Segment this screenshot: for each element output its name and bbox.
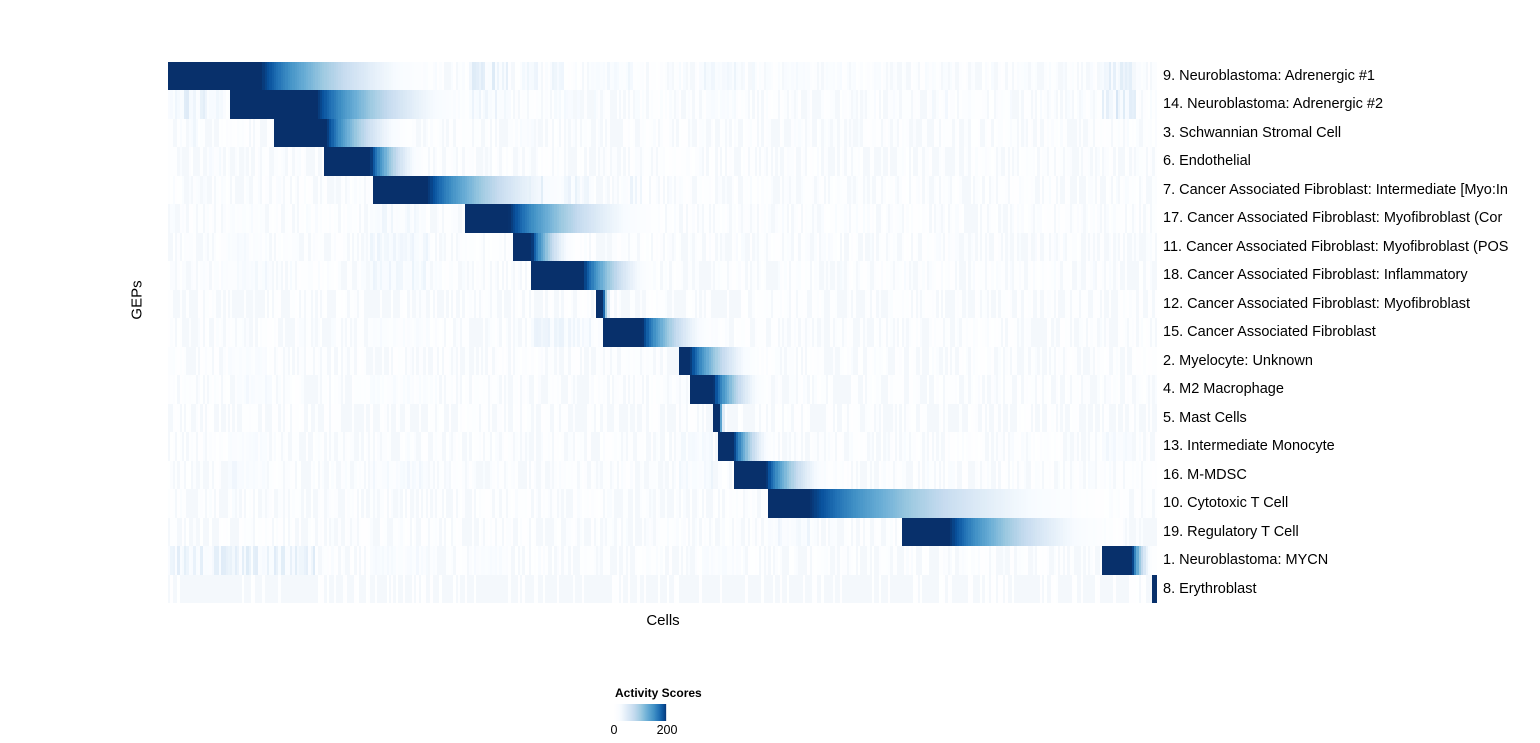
- colorbar-tick-label: 200: [657, 723, 678, 737]
- row-label: 10. Cytotoxic T Cell: [1163, 489, 1288, 517]
- heatmap-row: [168, 461, 1157, 489]
- heatmap-row: [168, 404, 1157, 432]
- row-label: 12. Cancer Associated Fibroblast: Myofib…: [1163, 290, 1470, 318]
- row-label: 18. Cancer Associated Fibroblast: Inflam…: [1163, 261, 1468, 289]
- row-label: 11. Cancer Associated Fibroblast: Myofib…: [1163, 233, 1508, 261]
- row-label: 15. Cancer Associated Fibroblast: [1163, 318, 1376, 346]
- legend-title: Activity Scores: [615, 686, 814, 700]
- x-axis-label: Cells: [646, 612, 679, 629]
- heatmap-row: [168, 62, 1157, 90]
- heatmap-row: [168, 119, 1157, 147]
- heatmap-row: [168, 489, 1157, 517]
- colorbar-gradient: [614, 704, 667, 721]
- row-label: 9. Neuroblastoma: Adrenergic #1: [1163, 62, 1375, 90]
- row-label: 5. Mast Cells: [1163, 404, 1247, 432]
- row-label: 17. Cancer Associated Fibroblast: Myofib…: [1163, 204, 1502, 232]
- row-label: 16. M-MDSC: [1163, 461, 1247, 489]
- heatmap-row: [168, 432, 1157, 460]
- row-label: 19. Regulatory T Cell: [1163, 518, 1299, 546]
- heatmap-row: [168, 318, 1157, 346]
- colorbar-tick-labels: 0200: [614, 723, 814, 739]
- y-axis-label: GEPs: [129, 280, 146, 319]
- row-label: 14. Neuroblastoma: Adrenergic #2: [1163, 90, 1383, 118]
- row-label: 8. Erythroblast: [1163, 575, 1257, 603]
- row-label: 6. Endothelial: [1163, 147, 1251, 175]
- heatmap-row: [168, 575, 1157, 603]
- heatmap-row: [168, 518, 1157, 546]
- row-label: 2. Myelocyte: Unknown: [1163, 347, 1313, 375]
- heatmap-row: [168, 290, 1157, 318]
- colorbar: [614, 704, 667, 721]
- colorbar-tick-label: 0: [611, 723, 618, 737]
- colorbar-tick: [666, 704, 668, 721]
- colorbar-legend: Activity Scores 0200: [614, 686, 814, 739]
- heatmap-row: [168, 261, 1157, 289]
- heatmap-panel[interactable]: [168, 62, 1157, 603]
- row-label: 7. Cancer Associated Fibroblast: Interme…: [1163, 176, 1508, 204]
- row-label: 3. Schwannian Stromal Cell: [1163, 119, 1341, 147]
- heatmap-row: [168, 546, 1157, 574]
- row-label: 13. Intermediate Monocyte: [1163, 432, 1335, 460]
- heatmap-row: [168, 147, 1157, 175]
- row-label: 4. M2 Macrophage: [1163, 375, 1284, 403]
- row-label-list: 9. Neuroblastoma: Adrenergic #114. Neuro…: [1163, 62, 1540, 603]
- heatmap-row: [168, 347, 1157, 375]
- heatmap-row: [168, 233, 1157, 261]
- row-label: 1. Neuroblastoma: MYCN: [1163, 546, 1328, 574]
- heatmap-row: [168, 204, 1157, 232]
- heatmap-row: [168, 176, 1157, 204]
- heatmap-row: [168, 375, 1157, 403]
- heatmap-row: [168, 90, 1157, 118]
- heatmap-figure: GEPs Cells 9. Neuroblastoma: Adrenergic …: [0, 0, 1540, 743]
